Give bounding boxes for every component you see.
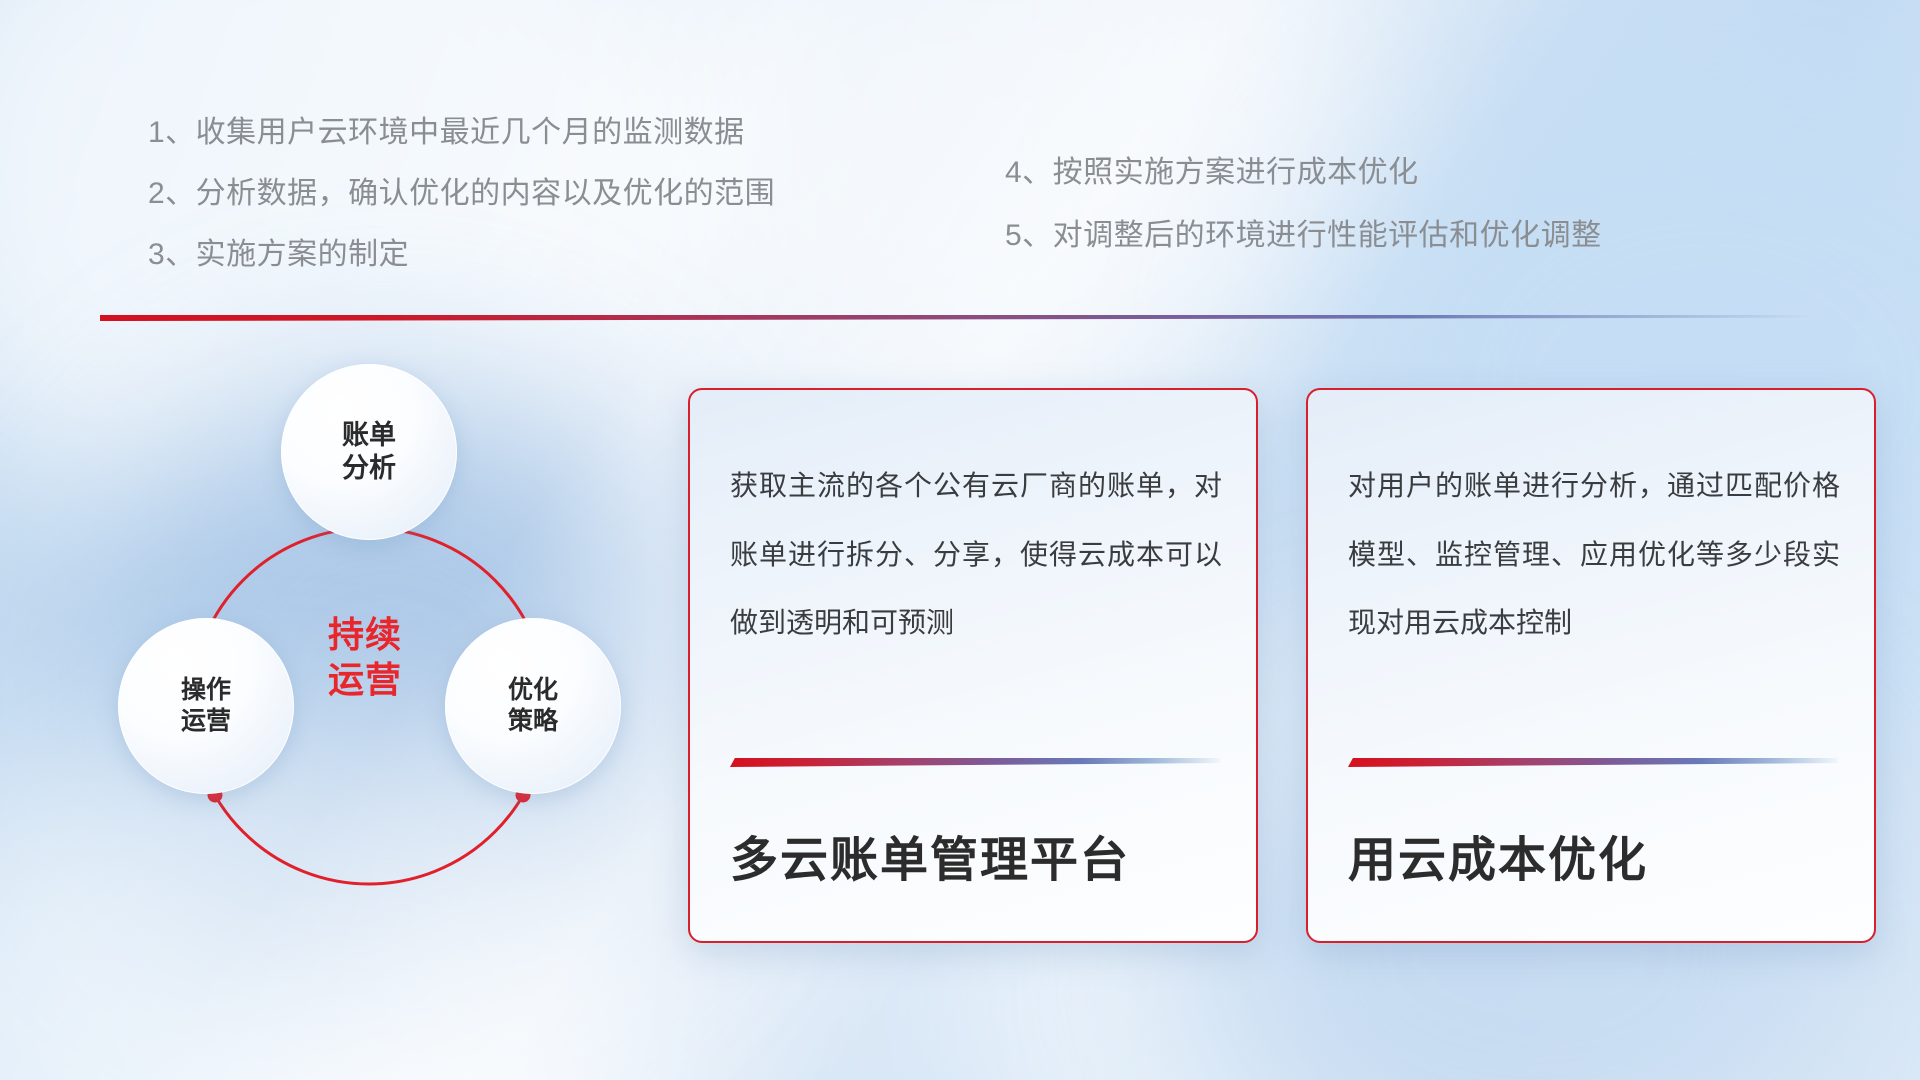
- venn-center-line1: 持续: [100, 612, 630, 657]
- venn-bubble-billing-analysis[interactable]: 账单 分析: [281, 364, 457, 540]
- card-title: 多云账单管理平台: [730, 820, 1222, 890]
- venn-center-line2: 运营: [100, 657, 630, 702]
- steps-right-column: 4、按照实施方案进行成本优化 5、对调整后的环境进行性能评估和优化调整: [1005, 158, 1602, 284]
- step-item: 2、分析数据，确认优化的内容以及优化的范围: [148, 179, 775, 209]
- venn-bubble-label-line2: 分析: [342, 452, 396, 485]
- venn-bubble-label-line2: 策略: [508, 706, 558, 737]
- card-divider: [730, 758, 1220, 767]
- venn-bubble-label-line1: 账单: [342, 419, 396, 452]
- venn-bubble-label-line2: 运营: [181, 706, 231, 737]
- venn-center-label: 持续 运营: [100, 612, 630, 703]
- card-title: 用云成本优化: [1348, 820, 1840, 890]
- card-cloud-cost-optimization[interactable]: 对用户的账单进行分析，通过匹配价格模型、监控管理、应用优化等多少段实现对用云成本…: [1306, 388, 1876, 943]
- step-item: 5、对调整后的环境进行性能评估和优化调整: [1005, 221, 1602, 251]
- venn-diagram: 账单 分析 操作 运营 优化 策略 持续 运营: [100, 350, 630, 950]
- step-item: 4、按照实施方案进行成本优化: [1005, 158, 1602, 188]
- card-body-text: 获取主流的各个公有云厂商的账单，对账单进行拆分、分享，使得云成本可以做到透明和可…: [730, 452, 1222, 658]
- card-body-text: 对用户的账单进行分析，通过匹配价格模型、监控管理、应用优化等多少段实现对用云成本…: [1348, 452, 1840, 658]
- step-item: 3、实施方案的制定: [148, 240, 775, 270]
- step-item: 1、收集用户云环境中最近几个月的监测数据: [148, 118, 775, 148]
- card-multi-cloud-billing-platform[interactable]: 获取主流的各个公有云厂商的账单，对账单进行拆分、分享，使得云成本可以做到透明和可…: [688, 388, 1258, 943]
- card-divider: [1348, 758, 1838, 767]
- steps-left-column: 1、收集用户云环境中最近几个月的监测数据 2、分析数据，确认优化的内容以及优化的…: [148, 118, 775, 301]
